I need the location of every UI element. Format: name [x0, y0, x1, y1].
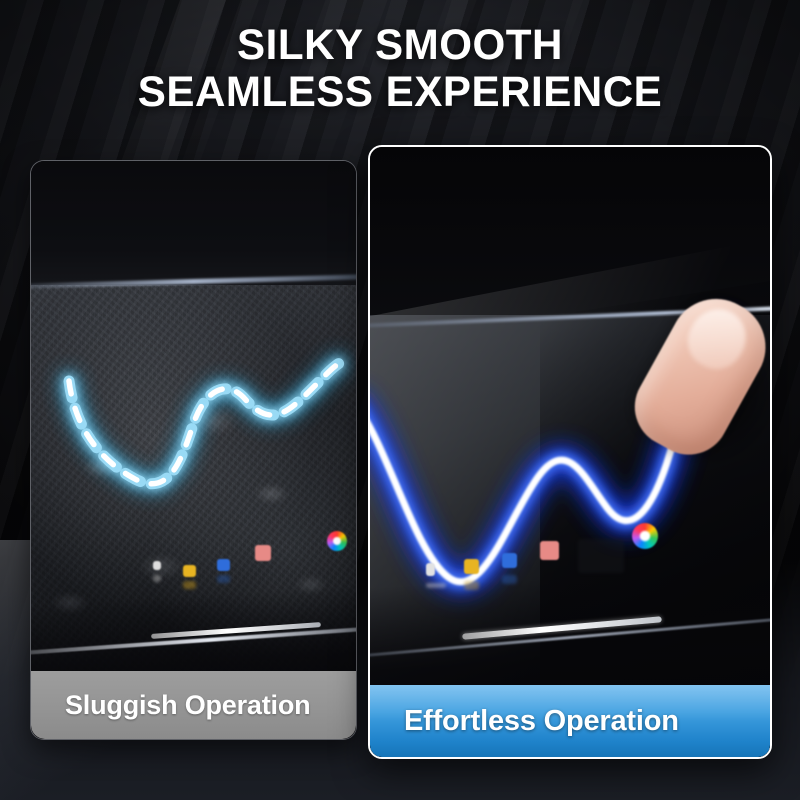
sluggish-label: Sluggish Operation — [65, 690, 310, 721]
effortless-label: Effortless Operation — [404, 705, 679, 738]
yellow-icon-reflection — [183, 581, 196, 589]
rainbow-icon[interactable] — [632, 523, 658, 549]
yellow-icon[interactable] — [464, 559, 479, 574]
blue-icon-reflection — [217, 575, 230, 583]
status-badge-effortless: Effortless Operation — [370, 685, 770, 757]
page-title: SILKY SMOOTH SEAMLESS EXPERIENCE — [8, 22, 792, 117]
white-icon[interactable] — [153, 561, 161, 570]
yellow-icon[interactable] — [183, 565, 196, 577]
rainbow-icon[interactable] — [327, 531, 347, 551]
blue-icon[interactable] — [502, 553, 517, 568]
white-icon-reflection — [153, 575, 161, 582]
app-shelf-shadow — [578, 539, 624, 573]
tablet-screen-sluggish — [31, 161, 356, 739]
white-icon[interactable] — [426, 563, 435, 576]
comparison-panel-effortless: Effortless Operation — [368, 145, 772, 759]
tablet-screen-effortless — [370, 147, 770, 757]
pink-icon[interactable] — [540, 541, 559, 560]
blue-icon[interactable] — [217, 559, 230, 571]
promo-banner: SILKY SMOOTH SEAMLESS EXPERIENCE — [0, 0, 800, 800]
comparison-panel-sluggish: Sluggish Operation — [30, 160, 357, 740]
fingernail — [678, 299, 756, 379]
headline-line-2: SEAMLESS EXPERIENCE — [8, 69, 792, 116]
pink-icon[interactable] — [255, 545, 271, 561]
headline-line-1: SILKY SMOOTH — [237, 21, 563, 69]
status-badge-sluggish: Sluggish Operation — [31, 671, 356, 739]
